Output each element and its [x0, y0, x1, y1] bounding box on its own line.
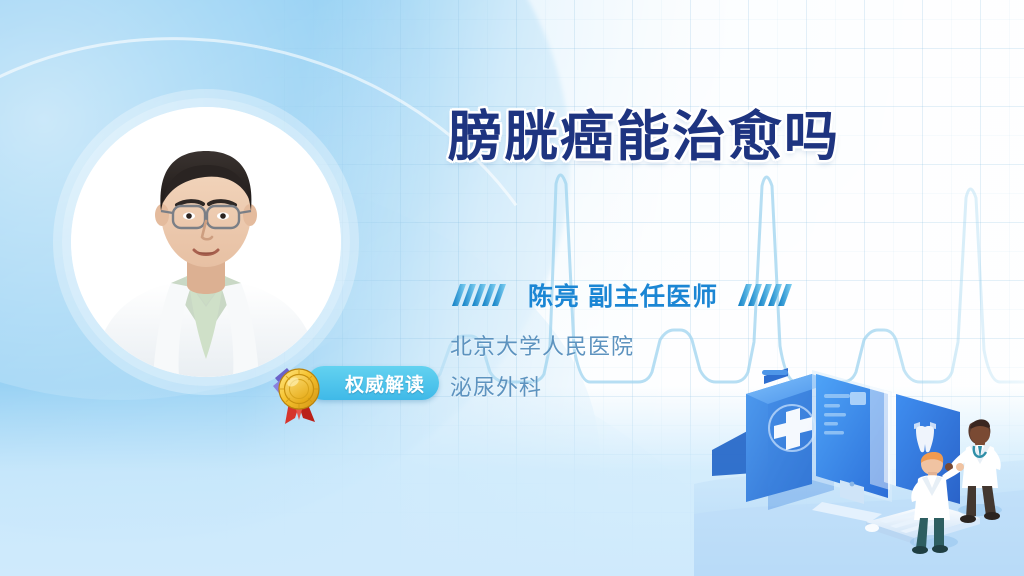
avatar-disc: [71, 107, 341, 377]
doctor-department: 泌尿外科: [450, 370, 542, 402]
cover-canvas: 权威解读: [0, 0, 1024, 576]
doctor-name-row: 陈亮 副主任医师: [452, 277, 794, 313]
page-title: 膀胱癌能治愈吗: [448, 92, 968, 171]
gold-medal-icon: [271, 362, 329, 424]
doctor-avatar: [62, 98, 350, 386]
slash-decoration-left-icon: [452, 284, 508, 306]
doctor-portrait-illustration: [71, 107, 341, 377]
doctor-hospital: 北京大学人民医院: [450, 329, 634, 361]
doctor-name-and-rank: 陈亮 副主任医师: [528, 277, 718, 313]
medical-workstation-illustration: [694, 364, 1024, 576]
authority-badge-label: 权威解读: [345, 370, 425, 397]
slash-decoration-right-icon: [738, 284, 794, 306]
